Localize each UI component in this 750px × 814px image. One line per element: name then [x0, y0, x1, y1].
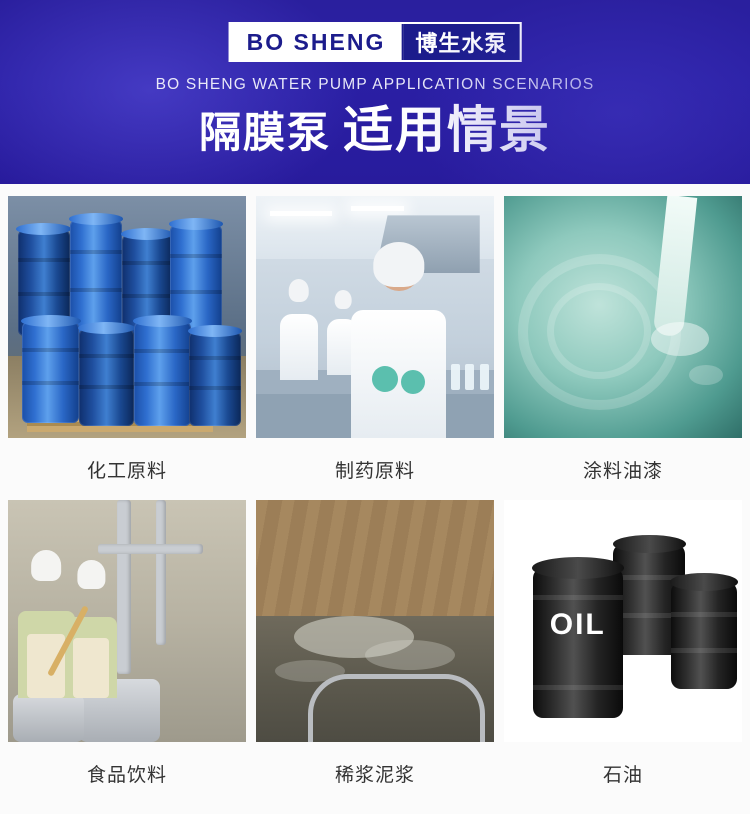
scenario-image-chemical — [8, 196, 246, 438]
foreground-worker — [351, 249, 446, 438]
paint-splash — [689, 365, 723, 385]
scenario-image-paint — [504, 196, 742, 438]
scenario-card-paint[interactable]: 涂料油漆 — [504, 196, 742, 500]
scenario-caption: 制药原料 — [256, 438, 494, 500]
pipe-icon — [98, 544, 203, 554]
scenario-image-oil: OIL — [504, 500, 742, 742]
scenario-image-slurry — [256, 500, 494, 742]
scenario-caption: 化工原料 — [8, 438, 246, 500]
scenario-card-slurry[interactable]: 稀浆泥浆 — [256, 500, 494, 804]
metal-rail-icon — [308, 674, 485, 742]
drum-icon — [79, 329, 134, 426]
pipe-icon — [117, 500, 131, 674]
sample-vial-icon — [480, 364, 489, 390]
brand-logo-cn: 博生水泵 — [403, 24, 519, 60]
scenario-card-oil[interactable]: OIL 石油 — [504, 500, 742, 804]
scenario-image-food — [8, 500, 246, 742]
page-header: BO SHENG 博生水泵 BO SHENG WATER PUMP APPLIC… — [0, 0, 750, 184]
scenario-image-pharma — [256, 196, 494, 438]
scenario-caption: 食品饮料 — [8, 742, 246, 804]
page-title: 隔膜泵适用情景 — [0, 100, 750, 163]
brand-logo-en: BO SHENG — [231, 24, 402, 60]
drum-icon — [22, 322, 79, 424]
paint-splash — [651, 322, 709, 356]
sample-vial-icon — [451, 364, 460, 390]
page-title-part2: 适用情景 — [343, 102, 551, 158]
brand-logo: BO SHENG 博生水泵 — [229, 22, 522, 62]
page-title-part1: 隔膜泵 — [199, 109, 331, 156]
paint-swirl — [547, 283, 651, 379]
header-subtitle: BO SHENG WATER PUMP APPLICATION SCENARIO… — [0, 76, 750, 94]
drum-icon — [189, 332, 241, 426]
earth-bank — [256, 500, 494, 616]
scenario-caption: 涂料油漆 — [504, 438, 742, 500]
ceiling-lamp-icon — [270, 211, 332, 216]
scenario-caption: 稀浆泥浆 — [256, 742, 494, 804]
page-root: BO SHENG 博生水泵 BO SHENG WATER PUMP APPLIC… — [0, 0, 750, 801]
scenario-card-food[interactable]: 食品饮料 — [8, 500, 246, 804]
scenario-card-chemical[interactable]: 化工原料 — [8, 196, 246, 500]
sample-vial-icon — [465, 364, 474, 390]
drum-icon — [134, 322, 191, 426]
oil-barrel-label: OIL — [550, 608, 606, 642]
scenario-caption: 石油 — [504, 742, 742, 804]
pipe-icon — [156, 500, 166, 645]
mixing-vat — [13, 694, 84, 742]
oil-barrel-icon — [671, 582, 738, 688]
oil-barrel-icon-primary: OIL — [533, 568, 623, 718]
ceiling-lamp-icon — [351, 206, 403, 211]
scenario-card-pharma[interactable]: 制药原料 — [256, 196, 494, 500]
scenario-grid: 化工原料 — [0, 184, 750, 814]
paint-pour-stream — [652, 196, 697, 338]
background-worker — [280, 283, 318, 380]
